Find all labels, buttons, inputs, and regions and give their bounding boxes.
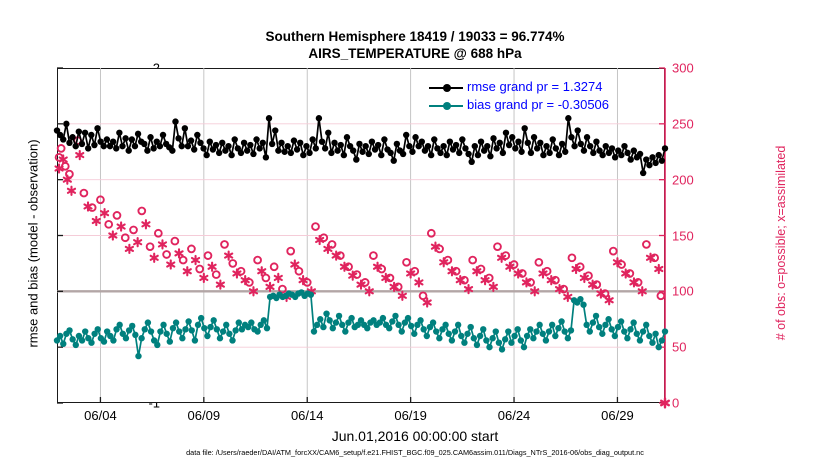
legend-item-bias[interactable]: bias grand pr = -0.30506: [429, 96, 660, 114]
series-bias: [54, 289, 668, 359]
obs-assimilated-markers: [56, 151, 663, 307]
chart-canvas: Southern Hemisphere 18419 / 19033 = 96.7…: [0, 0, 830, 470]
chart-legend: rmse grand pr = 1.3274 bias grand pr = -…: [429, 78, 660, 114]
legend-label-rmse: rmse grand pr = 1.3274: [467, 78, 603, 96]
plot-area: [0, 0, 830, 470]
legend-label-bias: bias grand pr = -0.30506: [467, 96, 609, 114]
obs-possible-markers: [56, 137, 665, 299]
legend-marker-rmse: [443, 84, 451, 92]
legend-item-rmse[interactable]: rmse grand pr = 1.3274: [429, 78, 660, 96]
legend-marker-bias: [443, 102, 451, 110]
